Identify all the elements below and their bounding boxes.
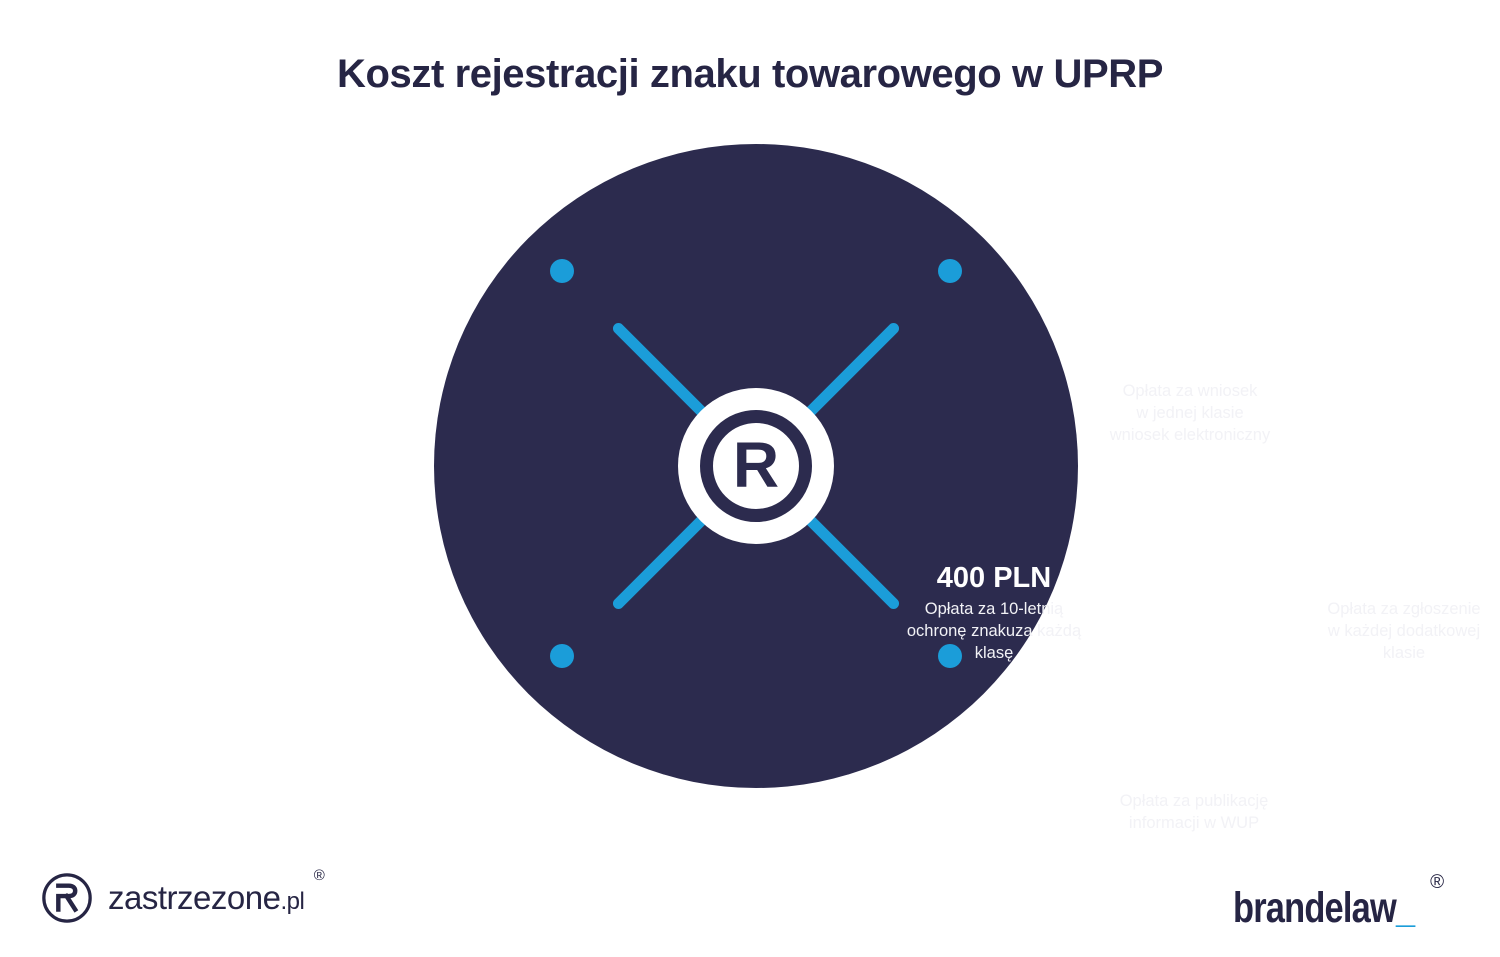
cost-item-left: 400 PLN Opłata za 10-letnią ochronę znak… <box>874 562 1114 665</box>
cost-description-top-line-2: w jednej klasie <box>1030 403 1350 425</box>
cost-description-left-line-2: ochronę znakuza każdą <box>874 621 1114 643</box>
cost-item-top: 400 PLN Opłata za wniosek w jednej klasi… <box>1030 344 1350 447</box>
spoke-dot-bottom-left <box>550 644 574 668</box>
spoke-dot-top-left <box>550 259 574 283</box>
cost-description-top-line-3: wniosek elektroniczny <box>1030 425 1350 447</box>
cost-description-bottom: Opłata za publikację informacji w WUP <box>1034 791 1354 835</box>
cost-description-right: Opłata za zgłoszenie w każdej dodatkowej… <box>1279 599 1500 664</box>
registered-mark-icon: ® <box>1430 873 1443 892</box>
cost-description-right-line-2: w każdej dodatkowej <box>1279 621 1500 643</box>
cost-amount-bottom: 90 PLN <box>1034 754 1354 787</box>
cost-description-top-line-1: Opłata za wniosek <box>1030 381 1350 403</box>
brandelaw-word: brandelaw <box>1233 884 1396 932</box>
cost-description-left-line-3: klasę <box>874 643 1114 665</box>
cost-description-right-line-1: Opłata za zgłoszenie <box>1279 599 1500 621</box>
spoke-dot-top-right <box>938 259 962 283</box>
cost-amount-right: 120 PLN <box>1279 562 1500 595</box>
cost-item-right: 120 PLN Opłata za zgłoszenie w każdej do… <box>1279 562 1500 665</box>
zastrzezone-tld: .pl <box>280 888 304 915</box>
page-title: Koszt rejestracji znaku towarowego w UPR… <box>0 52 1500 97</box>
brandelaw-logo: brandelaw_® <box>1233 868 1460 930</box>
cost-description-right-line-3: klasie <box>1279 643 1500 665</box>
registered-mark-icon: ® <box>314 867 325 884</box>
cost-amount-top: 400 PLN <box>1030 344 1350 377</box>
cost-item-bottom: 90 PLN Opłata za publikację informacji w… <box>1034 754 1354 835</box>
brandelaw-wordmark: brandelaw_® <box>1233 887 1414 930</box>
cost-description-left-line-1: Opłata za 10-letnią <box>874 599 1114 621</box>
zastrzezone-word: zastrzezone <box>108 879 280 916</box>
registered-trademark-letter: R <box>733 433 779 497</box>
zastrzezone-logo: zastrzezone.pl® <box>40 866 304 930</box>
cost-amount-left: 400 PLN <box>874 562 1114 595</box>
circular-r-icon <box>40 871 94 925</box>
cost-description-bottom-line-1: Opłata za publikację <box>1034 791 1354 813</box>
cost-wheel-diagram: R 400 PLN Opłata za wniosek w jednej kla… <box>434 144 1078 788</box>
zastrzezone-wordmark: zastrzezone.pl® <box>108 879 304 917</box>
brandelaw-underscore: _ <box>1396 884 1414 932</box>
cost-description-bottom-line-2: informacji w WUP <box>1034 813 1354 835</box>
cost-description-left: Opłata za 10-letnią ochronę znakuza każd… <box>874 599 1114 664</box>
cost-description-top: Opłata za wniosek w jednej klasie wniose… <box>1030 381 1350 446</box>
registered-trademark-icon: R <box>678 388 834 544</box>
registered-trademark-ring: R <box>700 410 812 522</box>
